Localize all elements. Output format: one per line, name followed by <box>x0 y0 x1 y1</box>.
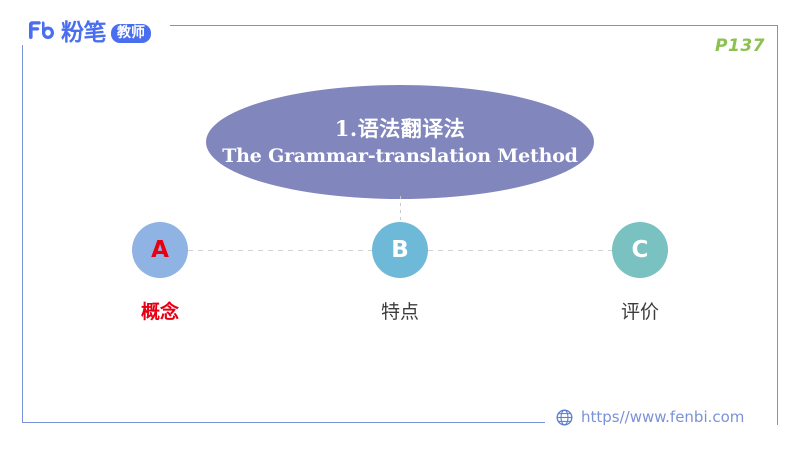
connector-a-to-b <box>188 250 372 251</box>
node-a-label: 概念 <box>141 303 179 322</box>
brand-logo: 粉笔 教师 <box>26 16 151 50</box>
node-b-circle[interactable]: B <box>372 222 428 278</box>
frame-border-bottom <box>22 422 545 423</box>
node-a-circle[interactable]: A <box>132 222 188 278</box>
node-c-label: 评价 <box>621 303 659 322</box>
fb-logo-icon <box>26 20 56 46</box>
globe-icon <box>556 409 573 426</box>
connector-b-to-c <box>428 250 612 251</box>
slide-canvas: 粉笔 教师 P137 1.语法翻译法 The Grammar-translati… <box>0 0 800 450</box>
brand-badge: 教师 <box>111 24 151 43</box>
title-english: The Grammar-translation Method <box>222 144 578 169</box>
node-c[interactable]: C 评价 <box>612 222 668 322</box>
page-number: P137 <box>715 36 765 56</box>
title-chinese: 1.语法翻译法 <box>335 116 465 142</box>
footer-url[interactable]: https//www.fenbi.com <box>556 409 744 426</box>
title-ellipse: 1.语法翻译法 The Grammar-translation Method <box>206 85 594 199</box>
footer-url-text[interactable]: https//www.fenbi.com <box>581 410 744 425</box>
frame-border-top <box>170 25 778 26</box>
node-b-label: 特点 <box>381 303 419 322</box>
brand-wordmark: 粉笔 <box>61 22 106 45</box>
node-b[interactable]: B 特点 <box>372 222 428 322</box>
node-a[interactable]: A 概念 <box>132 222 188 322</box>
frame-border-left <box>22 45 23 423</box>
node-c-circle[interactable]: C <box>612 222 668 278</box>
connector-title-to-b <box>400 196 401 222</box>
frame-border-right <box>777 25 778 425</box>
